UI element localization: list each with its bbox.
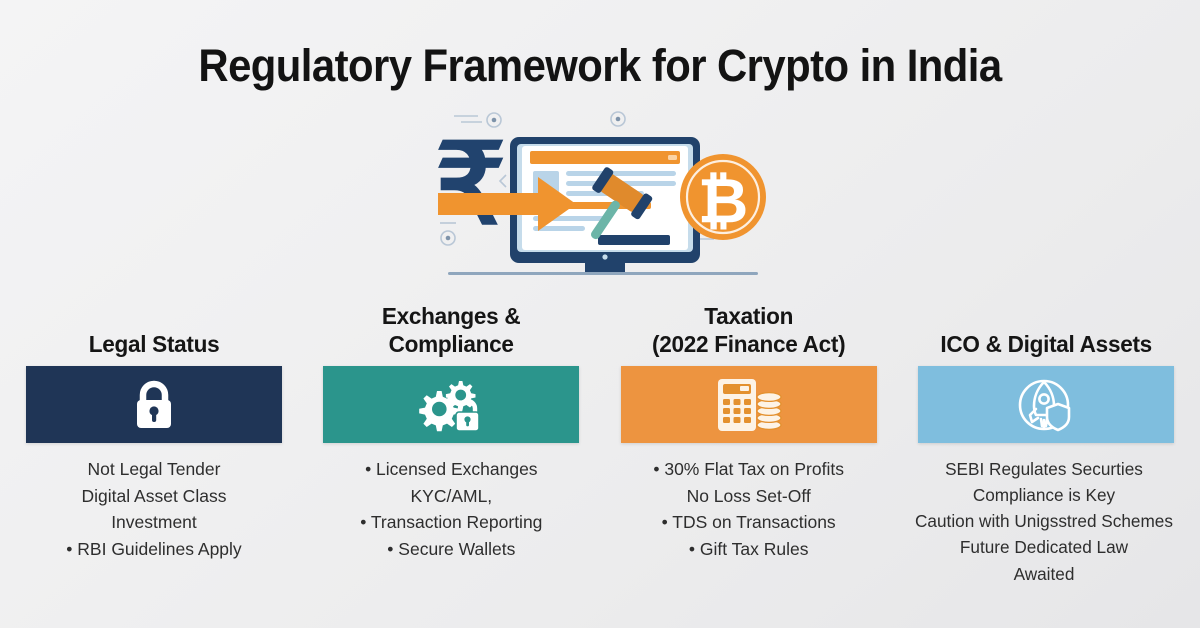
- body-line: Digital Asset Class: [66, 483, 241, 510]
- pillar-body-ico-digital-assets: SEBI Regulates Securties Compliance is K…: [919, 456, 1173, 587]
- heading-line: ICO & Digital Assets: [940, 331, 1152, 358]
- page-title: Regulatory Framework for Crypto in India: [42, 40, 1158, 92]
- pillar-panel-exchanges-compliance: [323, 366, 579, 443]
- svg-text:₿: ₿: [698, 167, 749, 236]
- padlock-icon: [131, 379, 177, 431]
- svg-text:₹: ₹: [435, 124, 506, 248]
- rupee-symbol-icon: ₹: [435, 124, 506, 248]
- pillar-exchanges-compliance: Exchanges & Compliance: [323, 300, 579, 587]
- heading-line: Exchanges &: [382, 303, 521, 330]
- body-line: Not Legal Tender: [66, 456, 241, 483]
- pillar-panel-ico-digital-assets: [918, 366, 1174, 443]
- body-line: Future Dedicated Law: [915, 534, 1173, 560]
- body-line: Compliance is Key: [915, 482, 1173, 508]
- body-line: SEBI Regulates Securties: [915, 456, 1173, 482]
- pillar-heading-legal-status: Legal Status: [89, 300, 220, 358]
- calculator-icon: [718, 379, 756, 431]
- body-line: • Transaction Reporting: [360, 509, 542, 536]
- body-line: Caution with Unigsstred Schemes: [915, 508, 1173, 534]
- calculator-coins-icon: [714, 376, 784, 434]
- rocket-shield-icon: [1015, 376, 1077, 434]
- pillar-heading-exchanges-compliance: Exchanges & Compliance: [382, 300, 521, 358]
- pillar-legal-status: Legal Status Not Legal Tender Digital As…: [26, 300, 282, 587]
- pillar-ico-digital-assets: ICO & Digital Assets: [918, 300, 1174, 587]
- body-line: Investment: [66, 509, 241, 536]
- infographic-poster: Regulatory Framework for Crypto in India: [0, 0, 1200, 628]
- gear-large: [420, 391, 460, 431]
- coin-stack-icon: [757, 392, 781, 429]
- body-line: No Loss Set-Off: [653, 483, 844, 510]
- heading-line: (2022 Finance Act): [652, 331, 845, 358]
- body-line: • Gift Tax Rules: [653, 536, 844, 563]
- pillar-panel-taxation: [621, 366, 877, 443]
- body-line: KYC/AML,: [360, 483, 542, 510]
- pillar-body-taxation: • 30% Flat Tax on Profits No Loss Set-Of…: [653, 456, 844, 562]
- pillar-taxation: Taxation (2022 Finance Act): [621, 300, 877, 587]
- pillar-heading-ico-digital-assets: ICO & Digital Assets: [940, 300, 1152, 358]
- body-line: • TDS on Transactions: [653, 509, 844, 536]
- body-line: • Licensed Exchanges: [360, 456, 542, 483]
- bitcoin-coin-icon: ₿: [680, 154, 766, 240]
- pillars-row: Legal Status Not Legal Tender Digital As…: [0, 300, 1200, 587]
- body-line: • Secure Wallets: [360, 536, 542, 563]
- heading-line: Legal Status: [89, 331, 220, 358]
- pillar-panel-legal-status: [26, 366, 282, 443]
- gears-lock-icon: [418, 377, 484, 433]
- pillar-body-legal-status: Not Legal Tender Digital Asset Class Inv…: [66, 456, 241, 562]
- pillar-heading-taxation: Taxation (2022 Finance Act): [652, 300, 845, 358]
- tablet-stand-icon: [448, 263, 758, 275]
- pillar-body-exchanges-compliance: • Licensed Exchanges KYC/AML, • Transact…: [360, 456, 542, 562]
- body-line: Awaited: [915, 561, 1173, 587]
- crypto-regulation-illustration: ₹: [430, 105, 775, 285]
- heading-line: Compliance: [382, 331, 521, 358]
- heading-line: Taxation: [652, 303, 845, 330]
- shield-icon: [1047, 404, 1069, 430]
- body-line: • 30% Flat Tax on Profits: [653, 456, 844, 483]
- body-line: • RBI Guidelines Apply: [66, 536, 241, 563]
